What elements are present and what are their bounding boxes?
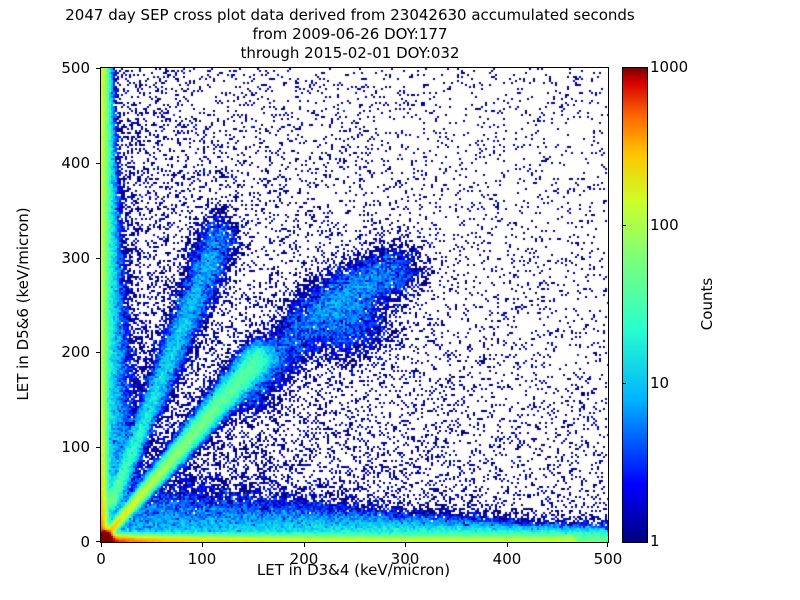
x-tick-mark — [101, 543, 102, 547]
y-tick-mark — [96, 68, 100, 69]
x-axis-label: LET in D3&4 (keV/micron) — [100, 561, 607, 579]
x-tick-mark — [607, 543, 608, 547]
y-tick-label: 0 — [80, 533, 90, 551]
figure-canvas: 2047 day SEP cross plot data derived fro… — [0, 0, 800, 600]
colorbar-gradient — [623, 68, 647, 542]
colorbar-tick-label: 100 — [650, 216, 679, 234]
y-tick-label: 200 — [61, 343, 90, 361]
y-tick-mark — [96, 541, 100, 542]
y-tick-mark — [96, 447, 100, 448]
colorbar-tick-label: 1000 — [650, 58, 688, 76]
x-tick-mark — [304, 543, 305, 547]
title-line-1: 2047 day SEP cross plot data derived fro… — [0, 6, 700, 25]
y-axis-label: LET in D5&6 (keV/micron) — [14, 207, 32, 400]
colorbar-tick-mark — [622, 225, 626, 226]
y-tick-mark — [96, 163, 100, 164]
colorbar-label: Counts — [698, 278, 716, 330]
title-line-3: through 2015-02-01 DOY:032 — [0, 44, 700, 63]
y-tick-label: 100 — [61, 438, 90, 456]
colorbar-tick-label: 1 — [650, 532, 660, 550]
plot-axes: 0100200300400500 0100200300400500 — [100, 67, 609, 543]
x-tick-mark — [507, 543, 508, 547]
x-tick-mark — [405, 543, 406, 547]
title-line-2: from 2009-06-26 DOY:177 — [0, 25, 700, 44]
colorbar-tick-label: 10 — [650, 374, 669, 392]
y-tick-mark — [96, 258, 100, 259]
y-tick-label: 500 — [61, 59, 90, 77]
colorbar — [622, 67, 648, 543]
y-tick-label: 300 — [61, 249, 90, 267]
colorbar-tick-mark — [622, 383, 626, 384]
x-tick-mark — [202, 543, 203, 547]
chart-title: 2047 day SEP cross plot data derived fro… — [0, 6, 700, 63]
y-tick-mark — [96, 352, 100, 353]
y-tick-label: 400 — [61, 154, 90, 172]
density-scatter-plot — [101, 68, 608, 542]
